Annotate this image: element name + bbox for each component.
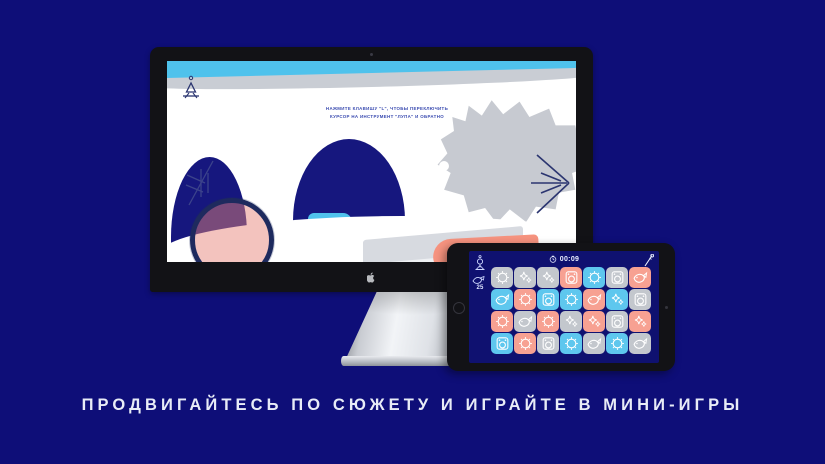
match-grid[interactable] [491,267,651,354]
grid-tile-fish-r4c5[interactable] [583,333,605,354]
grid-tile-fish-r2c5[interactable] [583,289,605,310]
tablet: 25 00:09 [447,243,675,371]
grid-tile-sparkle-r2c6[interactable] [606,289,628,310]
monitor-webcam-icon [370,53,373,56]
grid-tile-porthole-r1c1[interactable] [491,267,513,288]
grid-tile-washer-face-r2c7[interactable] [629,289,651,310]
grid-tile-fish-r1c7[interactable] [629,267,651,288]
timer-display: 00:09 [469,255,659,263]
grid-tile-washer-face-r4c1[interactable] [491,333,513,354]
grid-tile-sparkle-r3c4[interactable] [560,311,582,332]
grid-tile-washer-face-r1c6[interactable] [606,267,628,288]
grid-tile-washer-face-r3c6[interactable] [606,311,628,332]
clock-icon [549,255,557,263]
grid-tile-fish-r3c2[interactable] [514,311,536,332]
rune-right-icon [529,153,575,215]
game-scene[interactable]: НАЖМИТЕ КЛАВИШУ "L", ЧТОБЫ ПЕРЕКЛЮЧИТЬ К… [167,61,576,262]
hint-line-1: НАЖМИТЕ КЛАВИШУ "L", ЧТОБЫ ПЕРЕКЛЮЧИТЬ [297,105,477,113]
creature-eye [439,161,449,171]
tablet-screen: 25 00:09 [469,251,659,363]
grid-tile-porthole-r2c4[interactable] [560,289,582,310]
grid-tile-washer-face-r4c3[interactable] [537,333,559,354]
grid-tile-sparkle-r1c3[interactable] [537,267,559,288]
grid-tile-sparkle-r3c7[interactable] [629,311,651,332]
grid-tile-porthole-r4c4[interactable] [560,333,582,354]
tablet-camera-icon [665,306,668,309]
grid-tile-fish-r2c1[interactable] [491,289,513,310]
grid-tile-sparkle-r3c5[interactable] [583,311,605,332]
grid-tile-fish-r4c7[interactable] [629,333,651,354]
promo-stage: НАЖМИТЕ КЛАВИШУ "L", ЧТОБЫ ПЕРЕКЛЮЧИТЬ К… [0,0,825,464]
grid-tile-porthole-r1c5[interactable] [583,267,605,288]
grid-tile-porthole-r4c6[interactable] [606,333,628,354]
monitor-screen: НАЖМИТЕ КЛАВИШУ "L", ЧТОБЫ ПЕРЕКЛЮЧИТЬ К… [167,61,576,262]
grid-tile-porthole-r4c2[interactable] [514,333,536,354]
hint-text: НАЖМИТЕ КЛАВИШУ "L", ЧТОБЫ ПЕРЕКЛЮЧИТЬ К… [297,105,477,122]
grid-tile-porthole-r2c2[interactable] [514,289,536,310]
campfire-icon[interactable] [181,75,201,99]
collected-count: 25 [472,285,488,291]
grid-tile-washer-face-r1c4[interactable] [560,267,582,288]
grid-tile-porthole-r3c3[interactable] [537,311,559,332]
grid-tile-sparkle-r1c2[interactable] [514,267,536,288]
grid-tile-washer-face-r2c3[interactable] [537,289,559,310]
hint-line-2: КУРСОР НА ИНСТРУМЕНТ "ЛУПА" И ОБРАТНО [297,113,477,121]
tablet-home-button[interactable] [453,302,465,314]
apple-logo [367,272,376,283]
grid-tile-porthole-r3c1[interactable] [491,311,513,332]
timer-value: 00:09 [560,256,579,263]
promo-caption: ПРОДВИГАЙТЕСЬ ПО СЮЖЕТУ И ИГРАЙТЕ В МИНИ… [0,396,825,415]
